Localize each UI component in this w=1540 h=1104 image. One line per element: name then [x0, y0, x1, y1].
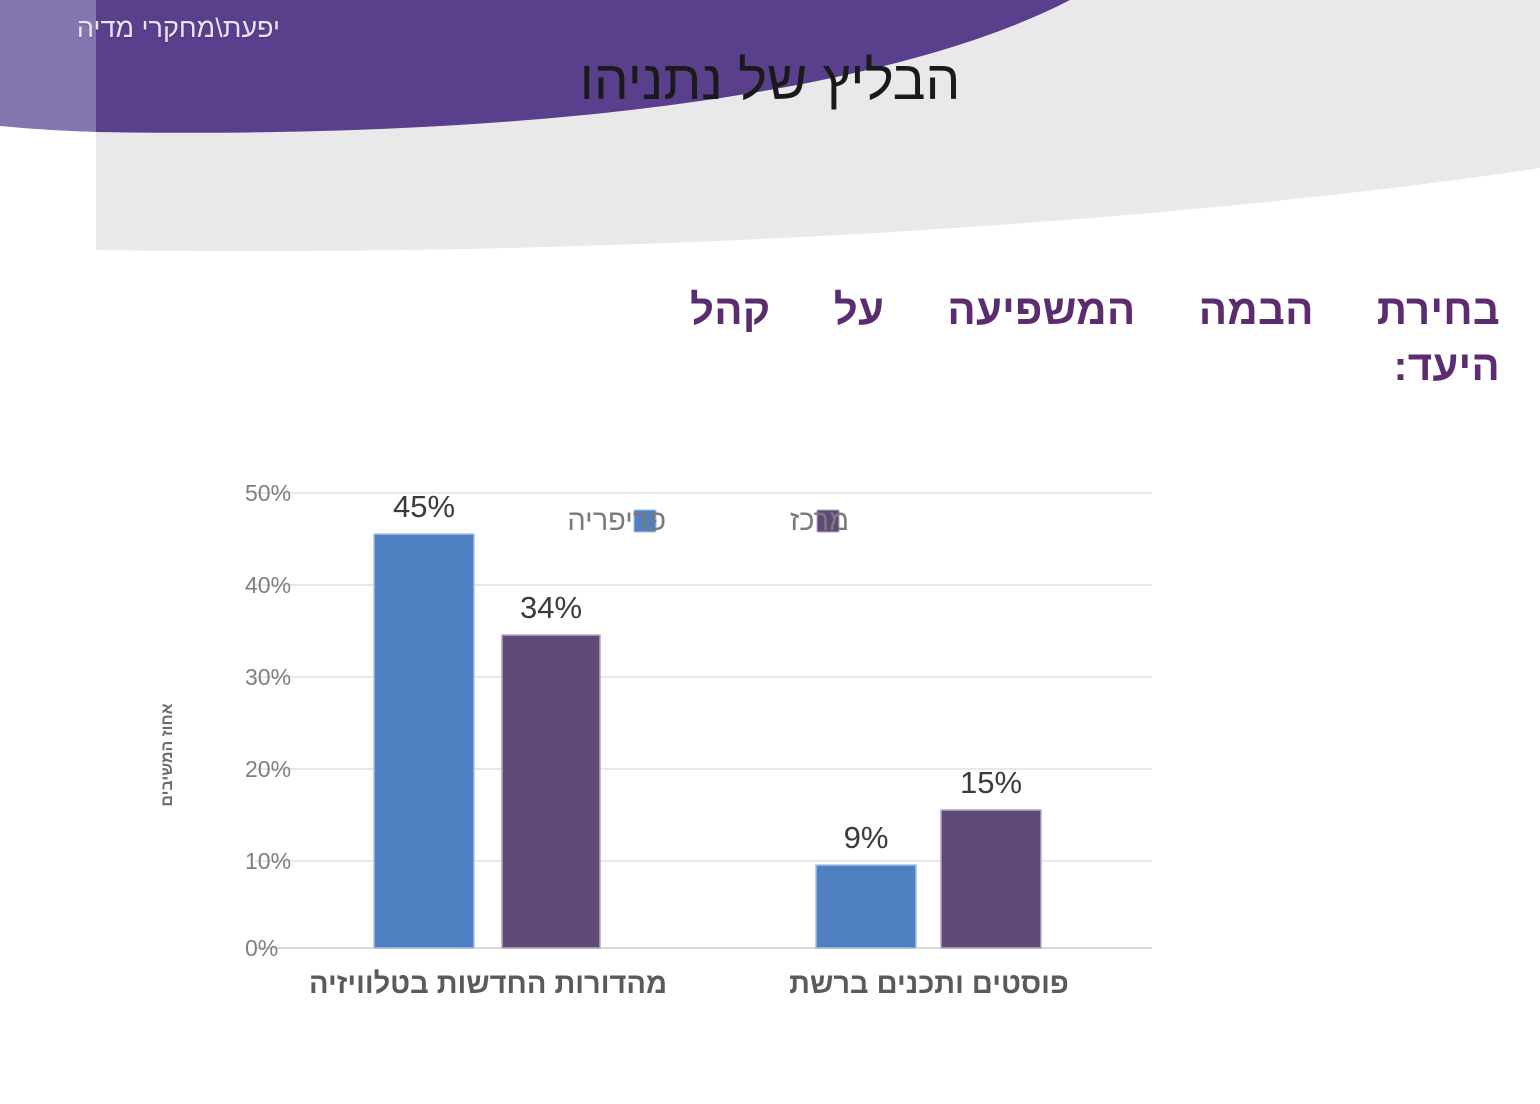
y-tick-label: 10%: [245, 848, 291, 874]
y-tick-label: 30%: [245, 664, 291, 690]
chart-legend: פריפריה מרכז: [567, 505, 849, 537]
bar-chart: 50% 40% 30% 20% 10% 0% אחוז המשיבים פריפ…: [150, 455, 1210, 1025]
subtitle-line-1: בחירת הבמה המשפיעה על קהל: [690, 286, 1500, 333]
bar-group-tv-news: 45% 34%: [374, 489, 600, 948]
y-tick-label: 40%: [245, 572, 291, 598]
bar-periphery-online-posts[interactable]: [816, 865, 916, 948]
bar-label-periphery-tv-news: 45%: [393, 489, 455, 524]
header-grey-shape: [96, 0, 1540, 251]
left-band-tail: [0, 126, 96, 250]
y-tick-label: 50%: [245, 480, 291, 506]
section-subtitle: בחירת הבמה המשפיעה על קהל היעד:: [690, 282, 1500, 394]
legend-label-center: מרכז: [790, 505, 849, 537]
x-category-label-tv-news: מהדורות החדשות בטלוויזיה: [309, 968, 667, 1000]
y-axis-title: אחוז המשיבים: [159, 703, 176, 806]
y-axis-ticks: 50% 40% 30% 20% 10% 0%: [245, 480, 291, 961]
slide: יפעת\מחקרי מדיה הבליץ של נתניהו בחירת הב…: [0, 0, 1540, 1104]
brand-logo-text: יפעת\מחקרי מדיה: [30, 8, 280, 48]
legend-label-periphery: פריפריה: [567, 505, 666, 537]
bar-group-online-posts: 9% 15%: [816, 765, 1041, 948]
x-category-label-online-posts: פוסטים ותכנים ברשת: [789, 968, 1069, 1000]
bar-label-center-online-posts: 15%: [960, 765, 1022, 800]
subtitle-line-2: היעד:: [690, 338, 1500, 394]
y-tick-label: 20%: [245, 756, 291, 782]
bar-label-center-tv-news: 34%: [520, 590, 582, 625]
bar-label-periphery-online-posts: 9%: [844, 820, 889, 855]
bar-periphery-tv-news[interactable]: [374, 534, 474, 948]
page-title: הבליץ של נתניהו: [0, 44, 1540, 116]
y-tick-label: 0%: [245, 935, 278, 961]
bar-center-tv-news[interactable]: [502, 635, 600, 948]
bar-center-online-posts[interactable]: [941, 810, 1041, 948]
x-axis-categories: מהדורות החדשות בטלוויזיה פוסטים ותכנים ב…: [309, 968, 1069, 1000]
